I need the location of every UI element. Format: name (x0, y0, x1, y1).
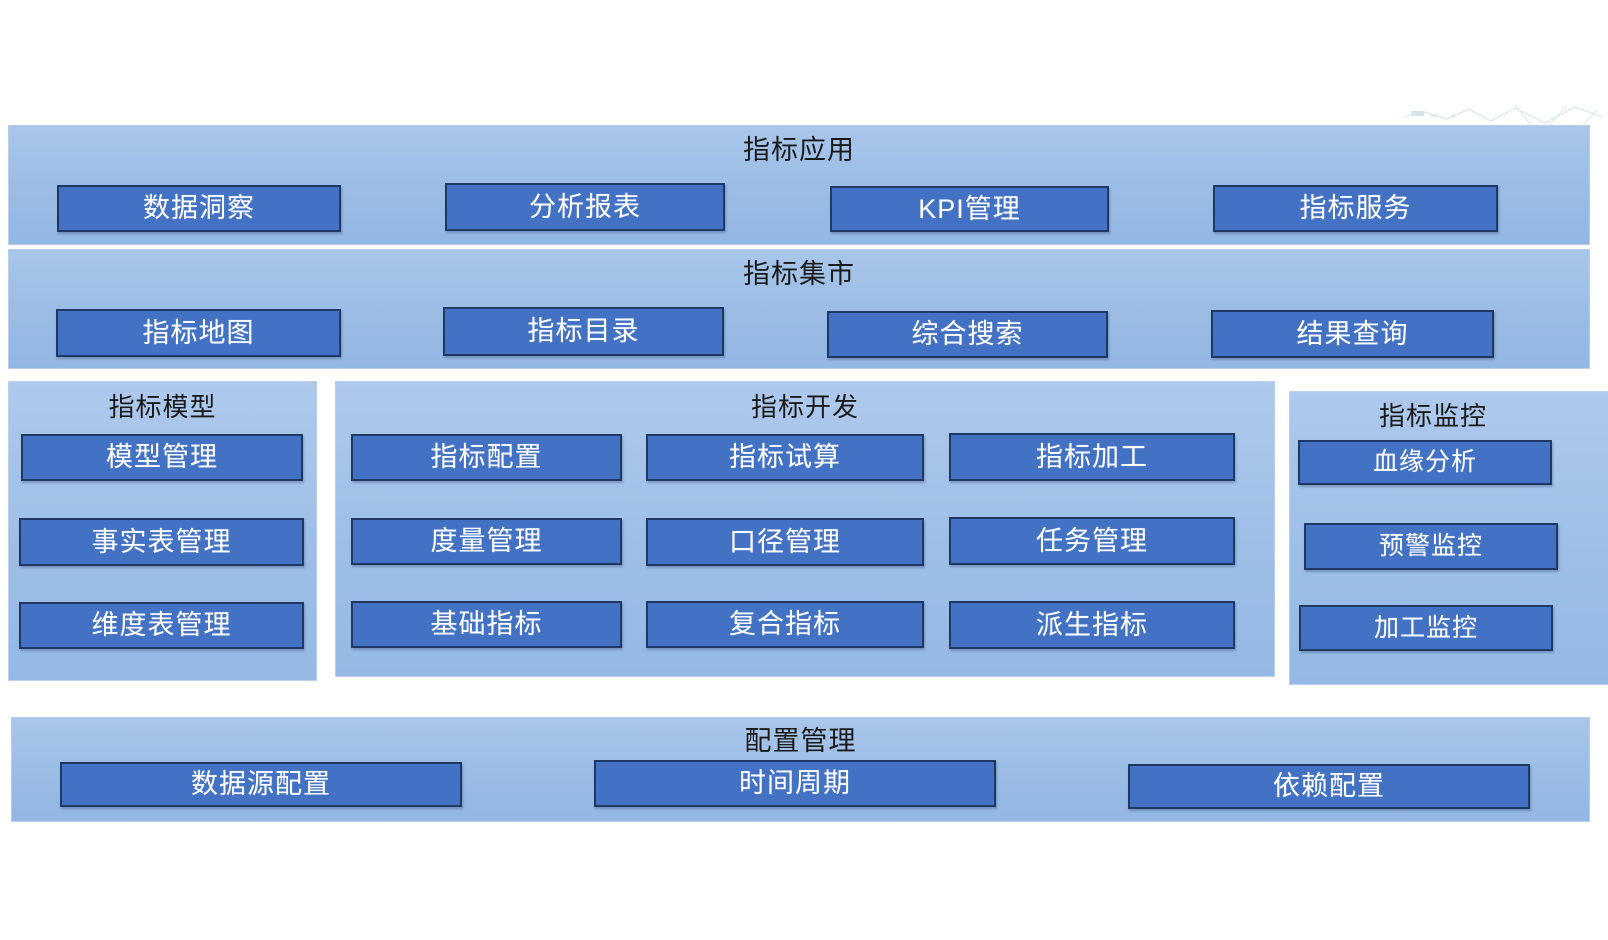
layer-title-configuration-management: 配置管理 (12, 726, 1589, 756)
panel-title-indicator-monitoring: 指标监控 (1290, 401, 1576, 431)
box-indicator-trial-calculation[interactable]: 指标试算 (646, 434, 924, 481)
box-model-management[interactable]: 模型管理 (21, 434, 303, 481)
box-derived-indicator[interactable]: 派生指标 (949, 601, 1235, 649)
box-result-query[interactable]: 结果查询 (1211, 310, 1494, 358)
box-indicator-map[interactable]: 指标地图 (56, 309, 341, 357)
box-indicator-service[interactable]: 指标服务 (1213, 185, 1498, 232)
layer-title-indicator-application: 指标应用 (9, 135, 1589, 165)
box-dimension-table-management[interactable]: 维度表管理 (19, 602, 304, 649)
box-lineage-analysis[interactable]: 血缘分析 (1298, 440, 1552, 485)
box-basic-indicator[interactable]: 基础指标 (351, 601, 622, 648)
box-comprehensive-search[interactable]: 综合搜索 (827, 311, 1108, 358)
box-time-period[interactable]: 时间周期 (594, 760, 996, 807)
box-fact-table-management[interactable]: 事实表管理 (19, 518, 304, 566)
box-data-insight[interactable]: 数据洞察 (57, 185, 341, 232)
layer-title-indicator-mart: 指标集市 (9, 259, 1589, 289)
architecture-diagram-canvas: 指标应用 数据洞察 分析报表 KPI管理 指标服务 指标集市 指标地图 指标目录… (0, 0, 1608, 940)
box-indicator-processing[interactable]: 指标加工 (949, 433, 1235, 481)
box-datasource-configuration[interactable]: 数据源配置 (60, 762, 462, 807)
box-measure-management[interactable]: 度量管理 (351, 518, 622, 565)
box-alert-monitoring[interactable]: 预警监控 (1304, 523, 1558, 570)
panel-title-indicator-development: 指标开发 (336, 392, 1274, 422)
box-composite-indicator[interactable]: 复合指标 (646, 601, 924, 648)
box-task-management[interactable]: 任务管理 (949, 517, 1235, 565)
box-processing-monitoring[interactable]: 加工监控 (1299, 605, 1553, 651)
box-caliber-management[interactable]: 口径管理 (646, 518, 924, 566)
box-indicator-catalog[interactable]: 指标目录 (443, 307, 724, 356)
box-dependency-configuration[interactable]: 依赖配置 (1128, 764, 1530, 809)
panel-title-indicator-model: 指标模型 (9, 392, 316, 422)
box-kpi-management[interactable]: KPI管理 (830, 186, 1109, 232)
box-indicator-configuration[interactable]: 指标配置 (351, 434, 622, 481)
box-analysis-report[interactable]: 分析报表 (445, 183, 725, 231)
